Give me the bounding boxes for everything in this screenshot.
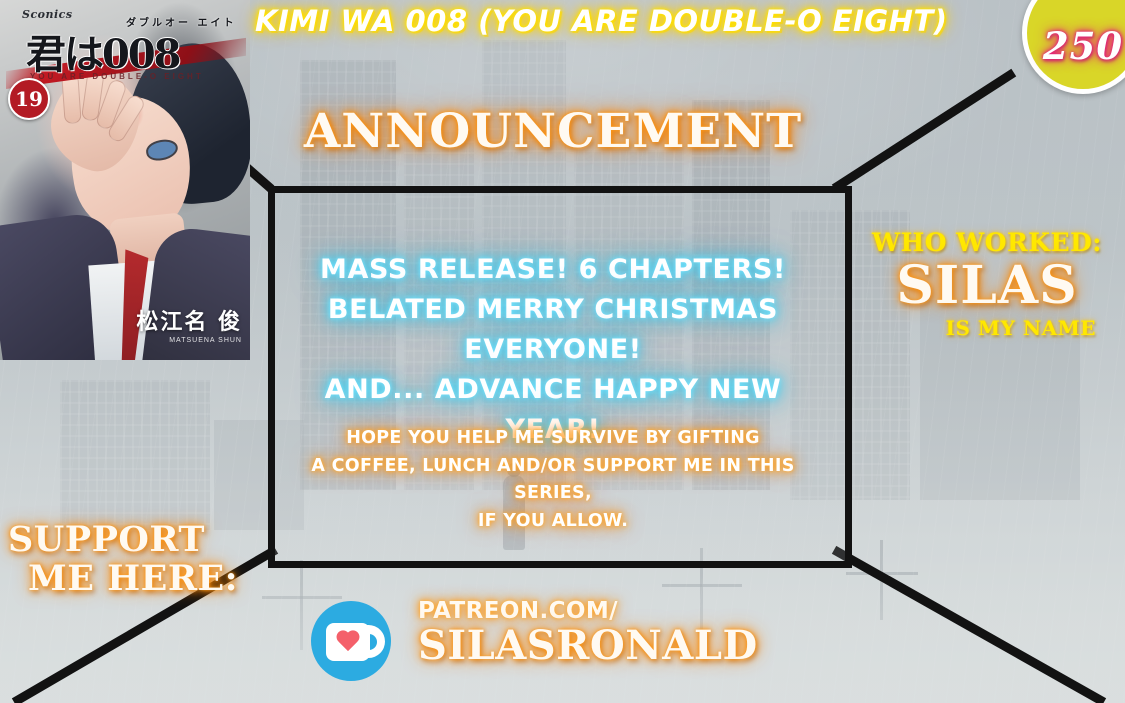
subtext-line-1: HOPE YOU HELP ME SURVIVE BY GIFTING [280,425,826,453]
subtext-line-3: IF YOU ALLOW. [280,508,826,536]
credits-label: WHO WORKED: [852,228,1122,257]
ko-fi-icon[interactable] [311,601,391,681]
credits-block: WHO WORKED: SILAS IS MY NAME [852,228,1122,340]
publisher-logo: Sconics [22,8,73,21]
manga-cover: Sconics ダブルオー エイト 君は008 YOU ARE DOUBLE-O… [0,0,250,360]
volume-badge: 19 [8,78,50,120]
patreon-username: SILASRONALD [418,622,758,669]
patreon-domain: PATREON.COM/ [418,598,758,624]
credits-name: SILAS [852,259,1122,314]
support-heading-line-1: SUPPORT [8,519,205,560]
logo-romaji-title: YOU ARE DOUBLE-O EIGHT [30,72,204,81]
message-line-1: MASS RELEASE! 6 CHAPTERS! [280,250,826,290]
announcement-page: Sconics ダブルオー エイト 君は008 YOU ARE DOUBLE-O… [0,0,1125,703]
subtext-line-2: A COFFEE, LUNCH AND/OR SUPPORT ME IN THI… [280,453,826,508]
credits-tagline: IS MY NAME [852,316,1122,340]
support-heading: SUPPORT ME HERE: [8,520,248,598]
support-heading-line-2: ME HERE: [8,559,248,598]
cover-logo: Sconics ダブルオー エイト 君は008 YOU ARE DOUBLE-O… [18,14,240,102]
author-name-jp: 松江名 俊 [136,304,242,336]
author-name-romaji: MATSUENA SHUN [136,337,242,344]
announcement-subtext: HOPE YOU HELP ME SURVIVE BY GIFTING A CO… [280,425,826,536]
announcement-heading: ANNOUNCEMENT [268,104,838,159]
message-line-2: BELATED MERRY CHRISTMAS EVERYONE! [280,290,826,370]
announcement-message: MASS RELEASE! 6 CHAPTERS! BELATED MERRY … [280,250,826,450]
series-title: KIMI WA 008 (YOU ARE DOUBLE-O EIGHT) [255,4,875,38]
cover-author: 松江名 俊 MATSUENA SHUN [136,304,242,344]
patreon-link[interactable]: PATREON.COM/ SILASRONALD [418,598,758,669]
heart-icon [335,631,361,654]
chapter-number-label: 250 [1043,24,1123,68]
